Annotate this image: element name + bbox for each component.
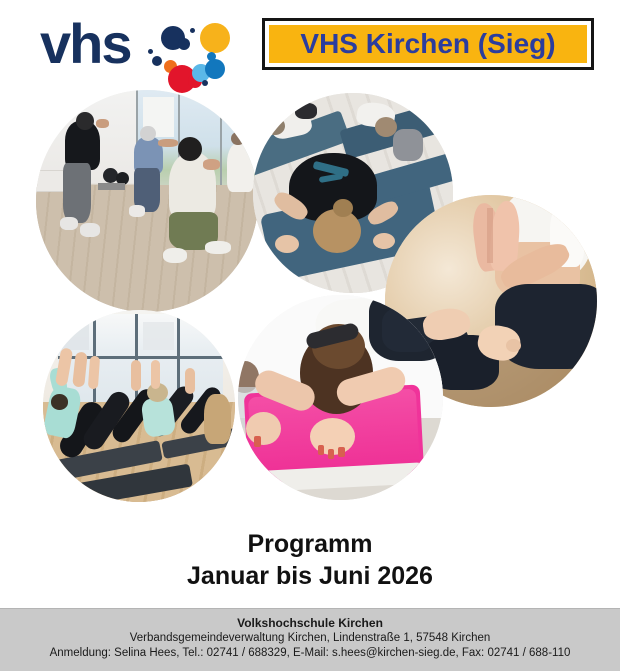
dot-navy-tail [178, 38, 190, 50]
programm-period: Januar bis Juni 2026 [0, 560, 620, 592]
vhs-wordmark-text: vhs [40, 16, 131, 72]
title-banner-fill: VHS Kirchen (Sieg) [269, 25, 587, 63]
footer-organization: Volkshochschule Kirchen [0, 615, 620, 631]
programm-heading: Programm [0, 528, 620, 560]
page-header: vhs VHS Kirchen (Sieg) [0, 0, 620, 88]
footer-contact: Anmeldung: Selina Hees, Tel.: 02741 / 68… [0, 646, 620, 661]
dot-blue-small [207, 52, 216, 61]
dot-navy-small [152, 56, 162, 66]
footer-bar: Volkshochschule Kirchen Verbandsgemeinde… [0, 608, 620, 671]
vhs-logo: vhs [40, 12, 220, 80]
photo-collage [0, 85, 620, 525]
photo-pilates-boat-pose [43, 310, 235, 502]
footer-address: Verbandsgemeindeverwaltung Kirchen, Lind… [0, 631, 620, 646]
title-banner: VHS Kirchen (Sieg) [262, 18, 594, 70]
page-title: VHS Kirchen (Sieg) [300, 28, 555, 60]
programm-title-block: Programm Januar bis Juni 2026 [0, 528, 620, 592]
dot-blue-mid [205, 59, 225, 79]
dot-navy-tiny-2 [148, 49, 153, 54]
dot-yellow-large [200, 23, 230, 53]
photo-taichi-class [36, 90, 258, 312]
dot-navy-tiny-1 [190, 28, 195, 33]
photo-childs-pose-pink-mat [238, 295, 443, 500]
